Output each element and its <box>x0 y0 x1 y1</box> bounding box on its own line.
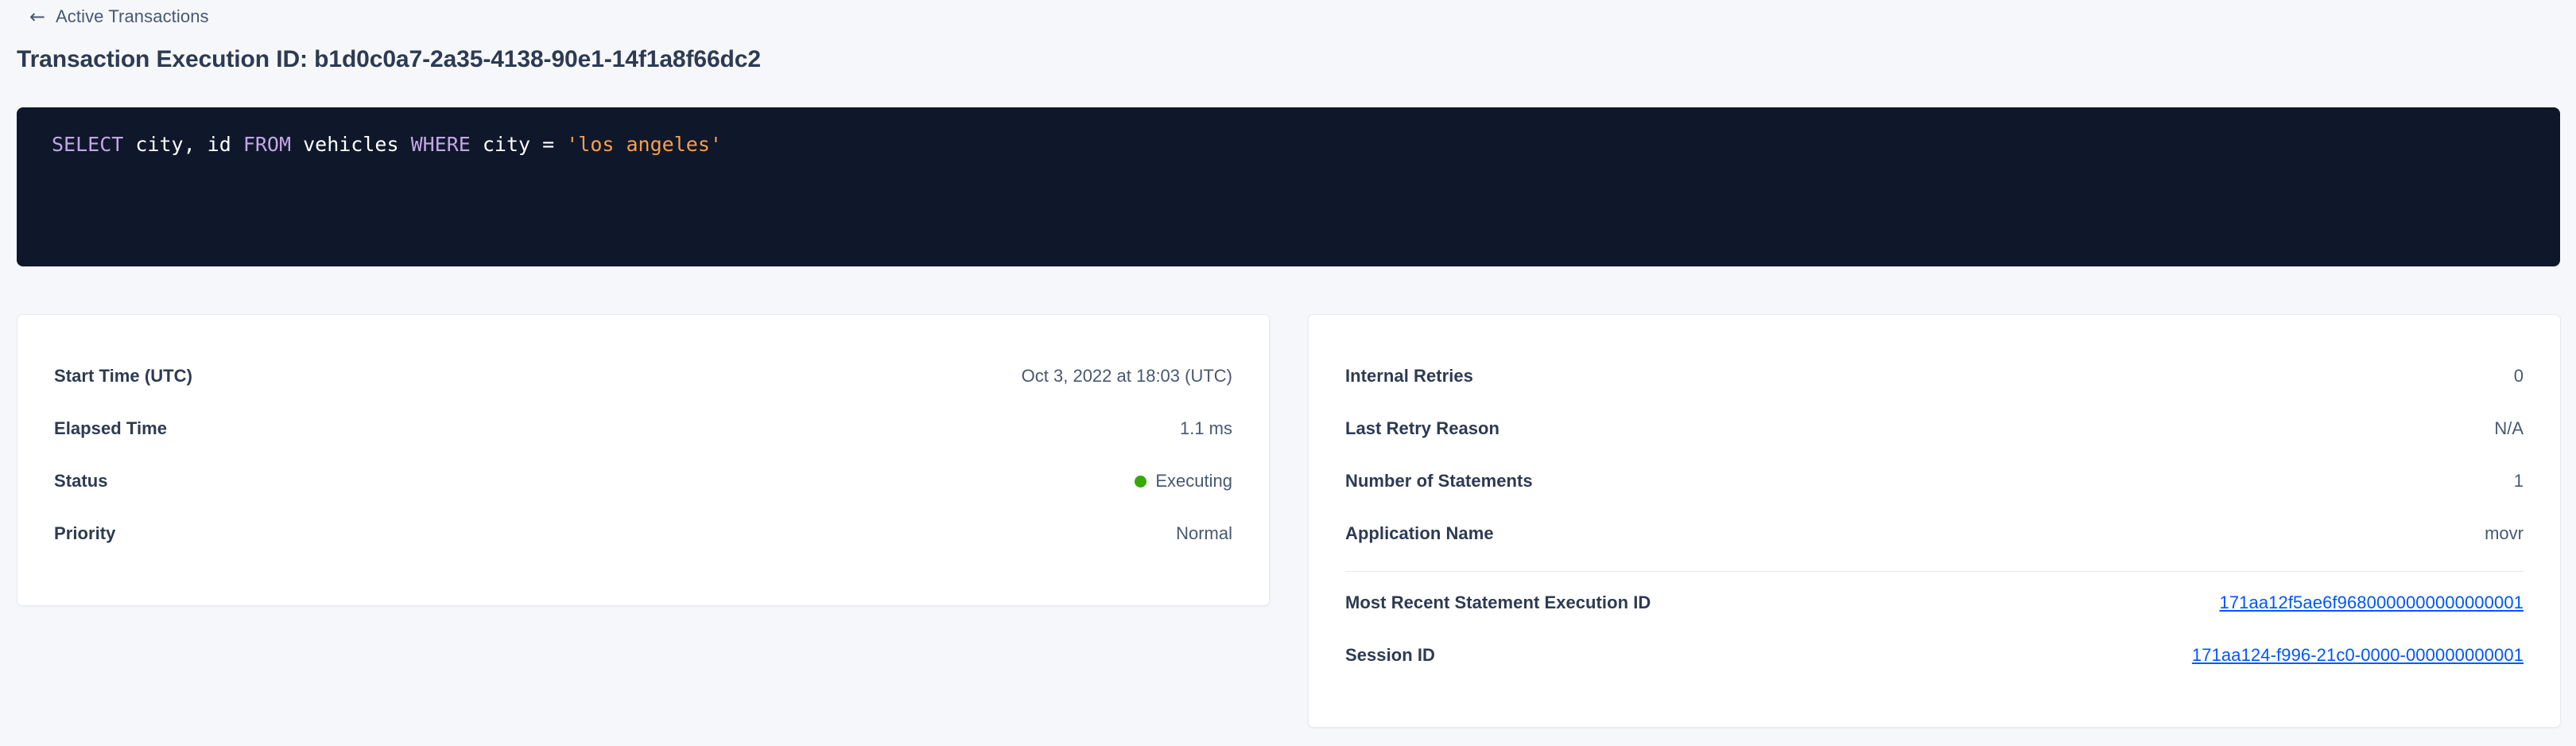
breadcrumb-back-link[interactable]: ← Active Transactions <box>29 5 209 29</box>
detail-row-label: Number of Statements <box>1345 471 1533 492</box>
arrow-left-icon: ← <box>29 7 46 26</box>
detail-row-value: N/A <box>2494 418 2524 439</box>
breadcrumb-label: Active Transactions <box>56 6 209 27</box>
detail-row: Last Retry ReasonN/A <box>1345 402 2524 455</box>
detail-row-label: Priority <box>54 523 115 544</box>
detail-row: Application Namemovr <box>1345 507 2524 560</box>
sql-token-identifier-5: city = <box>471 133 566 156</box>
detail-row: StatusExecuting <box>54 455 1232 507</box>
sql-token-keyword-0: SELECT <box>52 133 123 156</box>
overview-row-list: Start Time (UTC)Oct 3, 2022 at 18:03 (UT… <box>17 315 1269 560</box>
detail-row-link[interactable]: 171aa12f5ae6f9680000000000000001 <box>2220 593 2524 613</box>
page-title: Transaction Execution ID: b1d0c0a7-2a35-… <box>17 46 761 73</box>
detail-row-value: Oct 3, 2022 at 18:03 (UTC) <box>1022 366 1232 387</box>
detail-row-label: Most Recent Statement Execution ID <box>1345 593 1651 613</box>
detail-row-label: Session ID <box>1345 645 1435 666</box>
sql-token-string-6: 'los angeles' <box>566 133 722 156</box>
detail-row: Internal Retries0 <box>1345 350 2524 402</box>
detail-row-value: 171aa12f5ae6f9680000000000000001 <box>2220 593 2524 613</box>
detail-row: Session ID171aa124-f996-21c0-0000-000000… <box>1345 629 2524 682</box>
detail-row-value: 171aa124-f996-21c0-0000-000000000001 <box>2192 645 2524 666</box>
sql-token-keyword-4: WHERE <box>411 133 471 156</box>
status-dot-icon <box>1135 476 1146 488</box>
sql-token-keyword-2: FROM <box>243 133 291 156</box>
detail-row-label: Internal Retries <box>1345 366 1473 387</box>
details-row-list: Internal Retries0Last Retry ReasonN/ANum… <box>1309 315 2560 682</box>
detail-row-link[interactable]: 171aa124-f996-21c0-0000-000000000001 <box>2192 645 2524 666</box>
detail-row-value: Normal <box>1176 523 1232 544</box>
sql-token-identifier-3: vehicles <box>291 133 411 156</box>
detail-row: Number of Statements1 <box>1345 455 2524 507</box>
status-badge: Executing <box>1155 471 1232 492</box>
detail-row-label: Application Name <box>1345 523 1494 544</box>
detail-row-value: 1 <box>2514 471 2524 492</box>
detail-row: Start Time (UTC)Oct 3, 2022 at 18:03 (UT… <box>54 350 1232 402</box>
sql-token-identifier-1: city, id <box>123 133 243 156</box>
detail-row-label: Elapsed Time <box>54 418 167 439</box>
detail-row-label: Start Time (UTC) <box>54 366 192 387</box>
sql-code-block: SELECT city, id FROM vehicles WHERE city… <box>17 107 2560 266</box>
detail-row-label: Last Retry Reason <box>1345 418 1499 439</box>
transaction-details-card: Internal Retries0Last Retry ReasonN/ANum… <box>1308 314 2561 728</box>
transaction-overview-card: Start Time (UTC)Oct 3, 2022 at 18:03 (UT… <box>17 314 1270 606</box>
detail-row-value: Executing <box>1135 471 1232 492</box>
detail-row: PriorityNormal <box>54 507 1232 560</box>
detail-row-value: 1.1 ms <box>1180 418 1232 439</box>
detail-row-value: movr <box>2485 523 2524 544</box>
detail-row: Most Recent Statement Execution ID171aa1… <box>1345 577 2524 629</box>
transaction-detail-page: ← Active Transactions Transaction Execut… <box>0 0 2576 746</box>
detail-row-label: Status <box>54 471 108 492</box>
card-divider <box>1345 571 2524 572</box>
detail-row: Elapsed Time1.1 ms <box>54 402 1232 455</box>
detail-row-value: 0 <box>2514 366 2524 387</box>
sql-code-line: SELECT city, id FROM vehicles WHERE city… <box>52 131 2525 158</box>
